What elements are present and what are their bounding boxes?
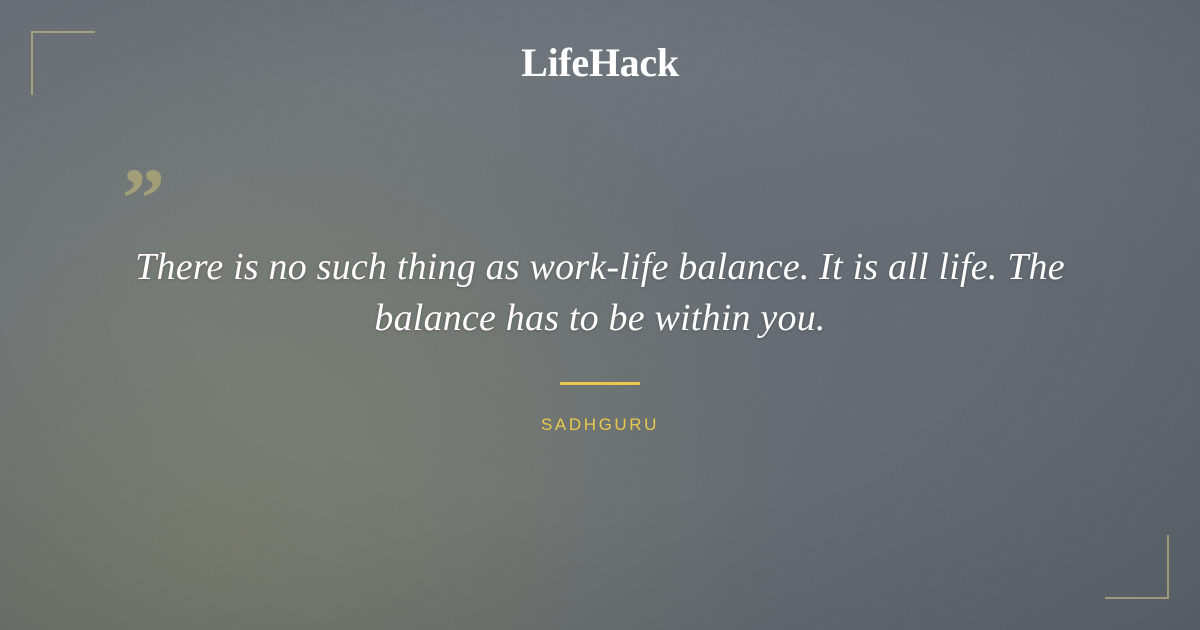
quote-text: There is no such thing as work-life bala… <box>100 242 1100 344</box>
quotation-mark-icon: ” <box>122 155 165 241</box>
quote-card: LifeHack ” There is no such thing as wor… <box>0 0 1200 630</box>
quote-content: ” There is no such thing as work-life ba… <box>0 0 1200 630</box>
quote-author: SADHGURU <box>0 414 1200 436</box>
divider-rule <box>560 382 640 385</box>
